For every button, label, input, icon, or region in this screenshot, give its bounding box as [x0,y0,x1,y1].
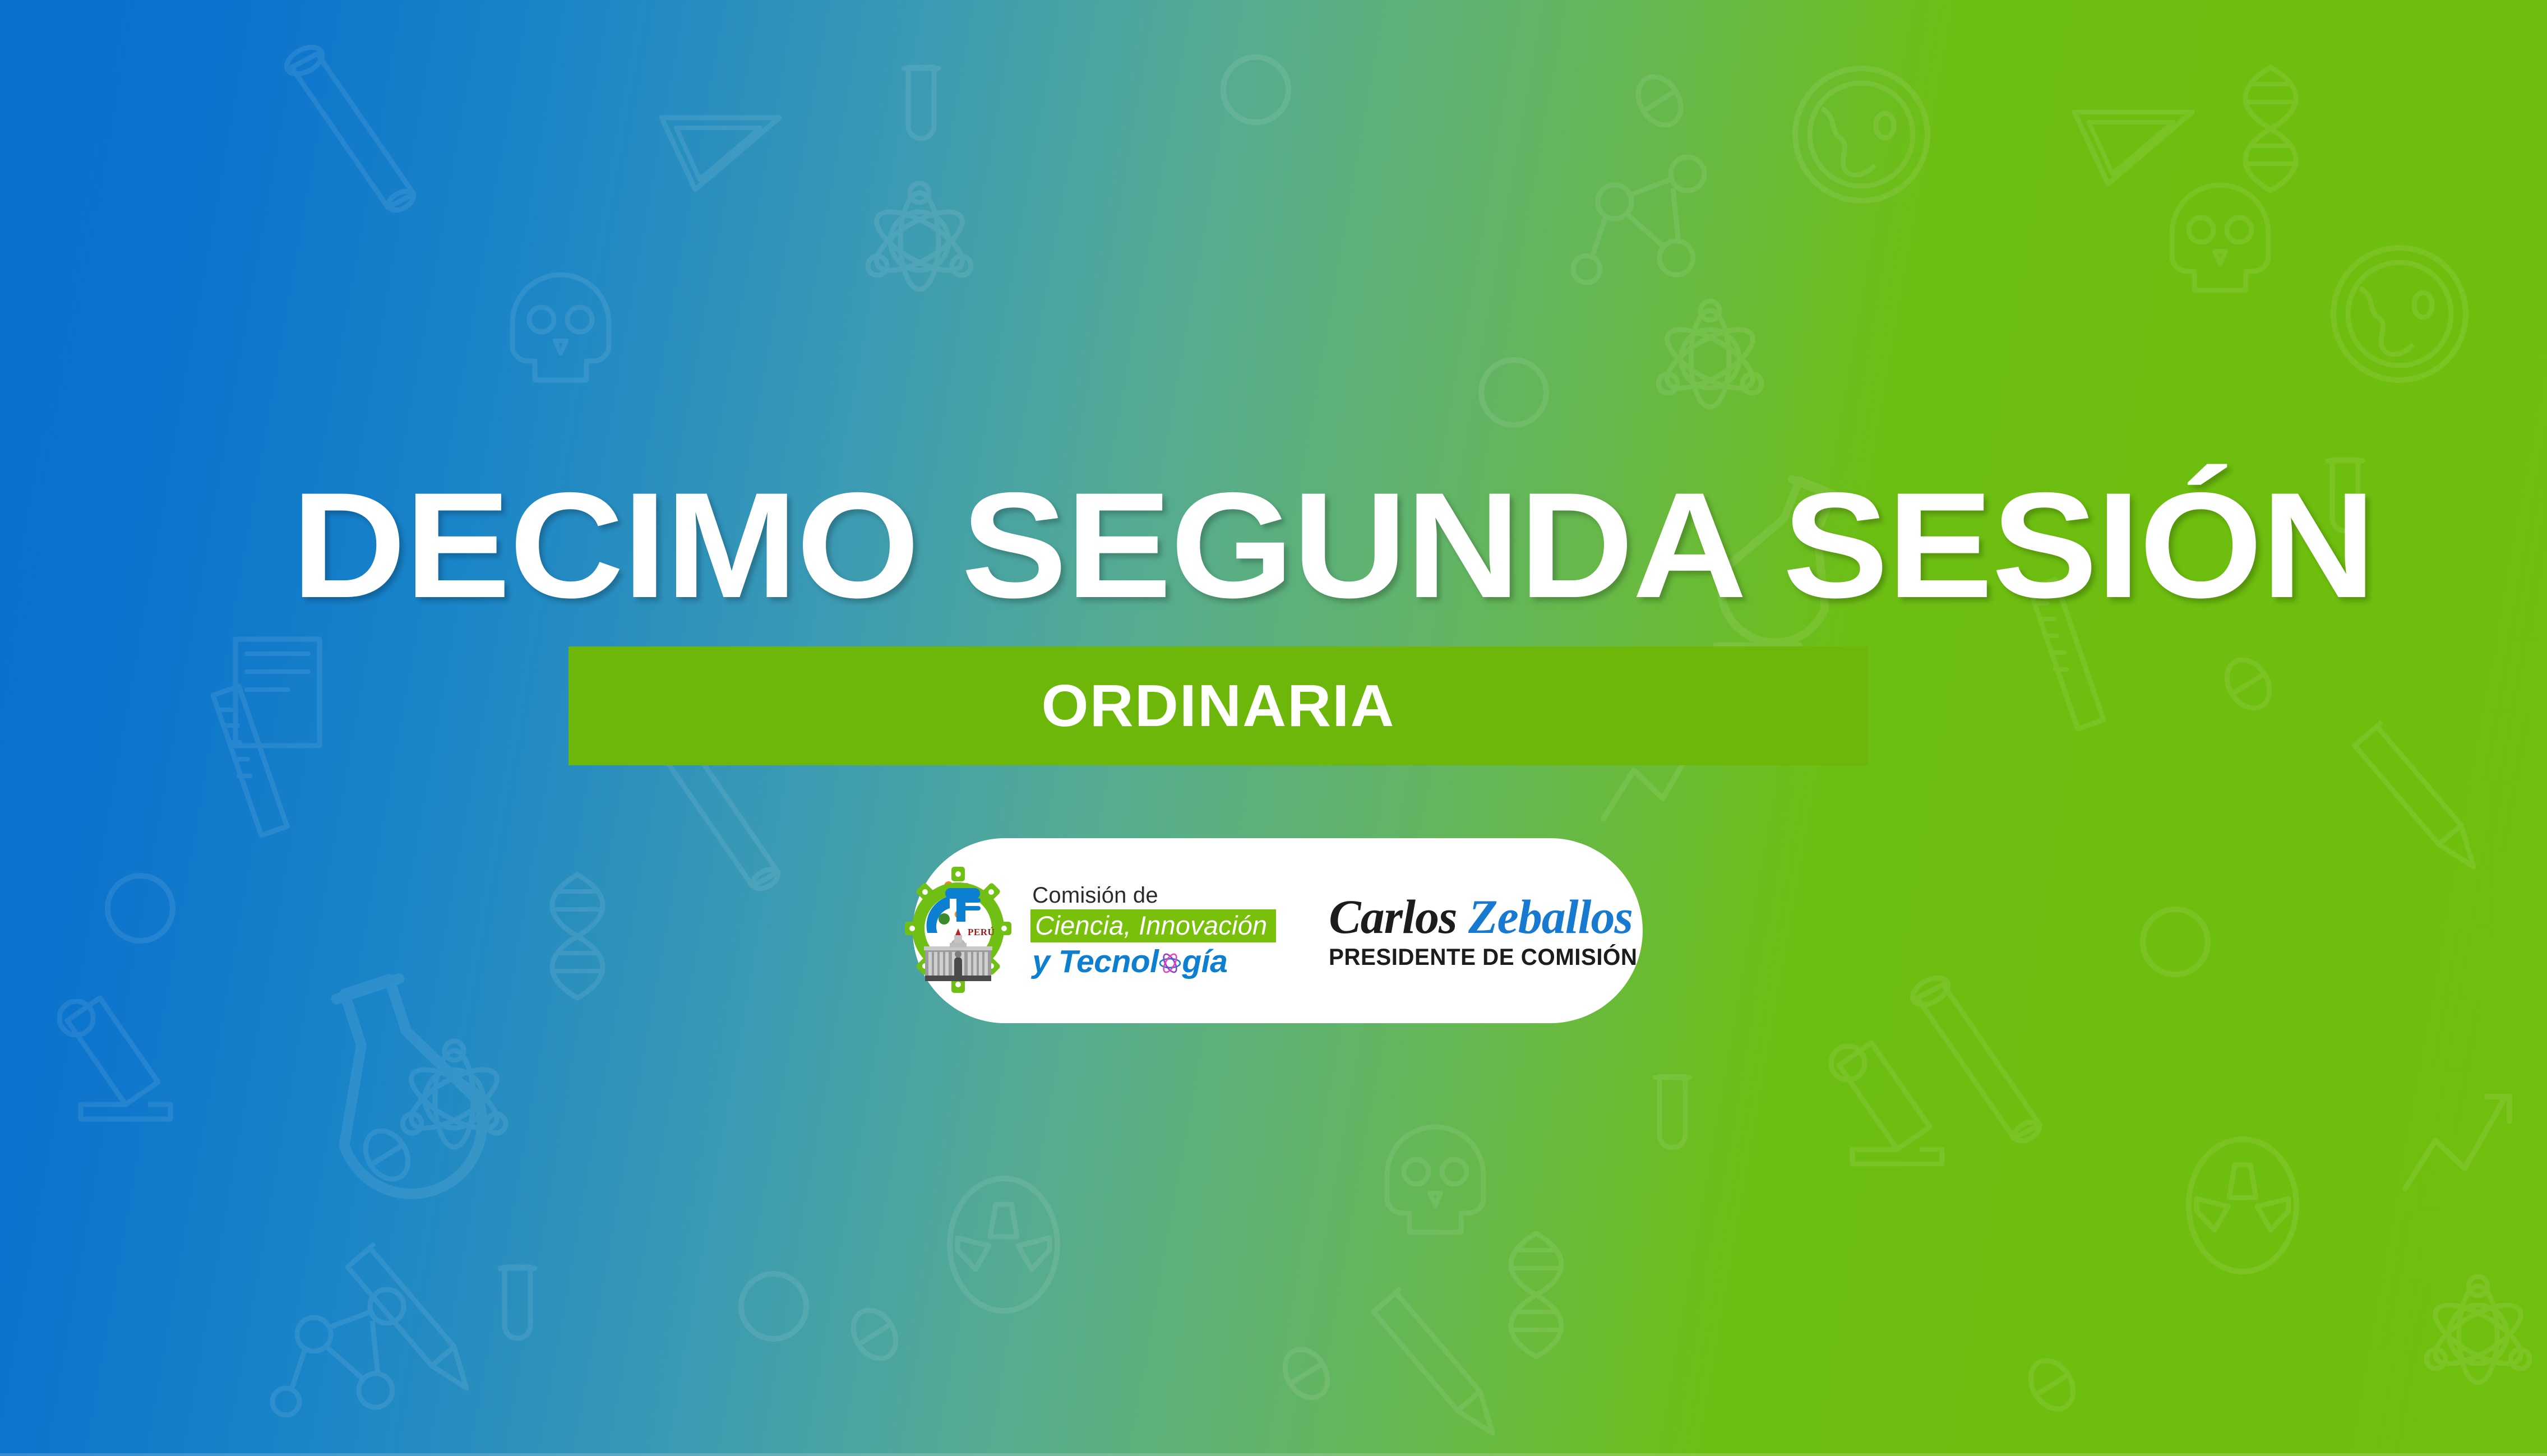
commission-line-2: Ciencia, Innovación [1030,909,1276,942]
president-role: PRESIDENTE DE COMISIÓN [1329,945,1637,969]
bottom-edge-line [0,1453,2547,1456]
president-first-name: Carlos [1329,890,1457,944]
commission-line-1: Comisión de [1030,884,1158,907]
commission-emblem-icon: PERÚ [905,867,1011,995]
subtitle-label: ORDINARIA [556,676,1881,736]
commission-line-3-prefix: y Tecnol [1032,946,1158,978]
president-name: Carlos Zeballos [1329,893,1633,941]
svg-text:PERÚ: PERÚ [968,927,995,937]
president-block: Carlos Zeballos PRESIDENTE DE COMISIÓN [1329,893,1650,969]
atom-icon [1159,952,1181,974]
page-title: DECIMO SEGUNDA SESIÓN [206,470,2460,620]
president-last-name: Zeballos [1468,890,1633,944]
session-banner: DECIMO SEGUNDA SESIÓN ORDINARIA [0,0,2547,1456]
subtitle-bar: ORDINARIA [568,646,1868,765]
logo-pill: PERÚ Comisión de Ciencia, Innovación y T… [913,838,1643,1023]
commission-wordmark: Comisión de Ciencia, Innovación y Tecnol… [1030,884,1276,978]
commission-line-3: y Tecnol gía [1030,946,1227,978]
commission-line-3-suffix: gía [1182,946,1227,978]
